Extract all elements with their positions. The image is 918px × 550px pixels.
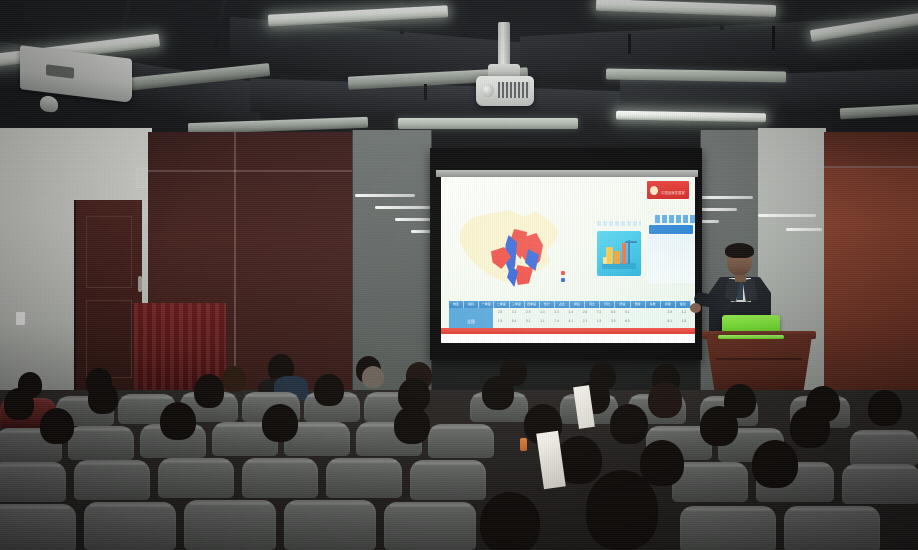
map-legend-dot-red	[561, 271, 565, 275]
table-cell	[634, 308, 648, 317]
projector-lens-icon	[481, 84, 494, 97]
lecture-hall-photo: 品牌 中国品牌发展报告	[0, 0, 918, 550]
table-header-cell: 环比	[600, 301, 615, 308]
light-hanger	[424, 84, 427, 100]
table-header-cell: 地区	[449, 301, 464, 308]
table-header-cell: 评级	[661, 301, 676, 308]
decor-stripe	[786, 228, 822, 231]
panel-heading-text	[655, 215, 695, 223]
light-hanger	[628, 34, 631, 54]
table-cell: 1.4	[564, 308, 578, 317]
attendee-head	[194, 374, 224, 408]
seat[interactable]	[284, 500, 376, 550]
attendee-head	[394, 406, 430, 444]
screen-top-bar	[436, 170, 698, 177]
attendee-head	[482, 376, 514, 410]
decor-stripe	[701, 196, 753, 199]
logo-subtext: 中国品牌发展报告	[661, 191, 685, 213]
attendee-head	[40, 408, 74, 444]
table-cell: 4.1	[564, 317, 578, 326]
table-header-cell: 一季度	[479, 301, 494, 308]
panel-body	[647, 235, 695, 283]
illustration-tank-icon	[606, 247, 613, 264]
decor-stripe	[395, 218, 433, 221]
seat[interactable]	[242, 458, 318, 498]
projector-pole	[498, 22, 510, 70]
door-panel	[86, 216, 132, 288]
attendee-head	[790, 406, 830, 448]
table-cell: 7.4	[550, 317, 564, 326]
slide-content: 品牌 中国品牌发展报告	[441, 177, 695, 343]
door-handle[interactable]	[138, 276, 142, 292]
seat[interactable]	[0, 462, 66, 502]
table-row: 2.83.12.94.03.31.42.67.28.96.13.54.2	[493, 308, 691, 317]
seat[interactable]	[384, 502, 476, 550]
table-cell: 8.1	[663, 317, 677, 326]
seat[interactable]	[850, 430, 918, 466]
seat[interactable]	[158, 458, 234, 498]
table-header-cell: 备注	[676, 301, 691, 308]
decor-stripe	[355, 194, 415, 197]
panel-heading-bar	[649, 225, 693, 234]
attendee-head	[160, 402, 196, 440]
table-cell	[649, 308, 663, 317]
table-cell: 3.1	[507, 308, 521, 317]
door-panel	[86, 300, 132, 378]
table-cell: 1.5	[592, 317, 606, 326]
table-cell: 5.1	[521, 317, 535, 326]
seat[interactable]	[84, 502, 176, 550]
table-cell: 1.1	[535, 317, 549, 326]
attendee-head	[868, 390, 902, 426]
map-legend-dot-blue	[561, 278, 565, 282]
table-header-cell: 指标	[464, 301, 479, 308]
decor-stripe	[701, 208, 737, 211]
table-cell: 6.1	[620, 308, 634, 317]
table-header-row: 地区指标一季度二季度三季度四季度合计占比排名同比环比增速贡献系数评级备注	[449, 301, 691, 308]
light-hanger	[772, 26, 775, 50]
table-cell: 3.5	[663, 308, 677, 317]
seat[interactable]	[68, 426, 134, 460]
seat[interactable]	[326, 458, 402, 498]
water-bottle[interactable]	[520, 438, 527, 451]
illustration-box-icon	[603, 257, 607, 264]
seat[interactable]	[428, 424, 494, 458]
table-header-cell: 贡献	[631, 301, 646, 308]
table-header-cell: 三季度	[510, 301, 525, 308]
illustration-caption	[597, 221, 641, 226]
table-header-cell: 增速	[615, 301, 630, 308]
illustration-tank-icon	[614, 251, 620, 264]
attendee-head	[4, 388, 34, 420]
attendee-head	[586, 470, 658, 550]
seat[interactable]	[74, 460, 150, 500]
table-row: 1.98.45.11.17.44.12.11.53.96.08.11.8	[493, 317, 691, 326]
table-header-cell: 二季度	[494, 301, 509, 308]
table-header-cell: 四季度	[525, 301, 540, 308]
table-cell: 8.4	[507, 317, 521, 326]
seat[interactable]	[842, 464, 918, 504]
table-cell: 3.9	[606, 317, 620, 326]
seat[interactable]	[410, 460, 486, 500]
decor-stripe	[701, 220, 719, 223]
logo-text: 品牌	[661, 177, 674, 178]
seat[interactable]	[680, 506, 776, 550]
illustration-tower-icon	[622, 243, 626, 264]
table-cell: 1.9	[493, 317, 507, 326]
ac-nozzle	[40, 95, 58, 113]
entry-door[interactable]	[74, 200, 142, 390]
panel-seam	[148, 170, 356, 172]
fluorescent-tube-light	[398, 118, 578, 129]
table-cell: 2.9	[521, 308, 535, 317]
table-header-cell: 合计	[540, 301, 555, 308]
attendee-head	[314, 374, 344, 406]
table-cell: 8.9	[606, 308, 620, 317]
laptop-base	[718, 335, 784, 339]
wall-panel-left	[352, 130, 432, 392]
table-cell: 4.2	[677, 308, 691, 317]
seat[interactable]	[0, 504, 76, 550]
table-header-cell: 系数	[646, 301, 661, 308]
slide-footer	[441, 334, 695, 343]
attendee-head	[648, 382, 682, 418]
right-wood-panel	[824, 132, 918, 394]
table-header-cell: 排名	[570, 301, 585, 308]
illustration-crane-arm-icon	[625, 241, 637, 243]
lectern	[706, 336, 812, 398]
table-cell	[649, 317, 663, 326]
table-header-cell: 同比	[585, 301, 600, 308]
table-cell: 3.3	[550, 308, 564, 317]
attendee-head	[610, 404, 648, 444]
decor-stripe	[758, 214, 816, 217]
seat[interactable]	[784, 506, 880, 550]
slide-logo: 品牌 中国品牌发展报告	[647, 181, 689, 199]
attendee-head	[88, 382, 118, 414]
illustration-tile	[597, 231, 641, 276]
projector-vent	[498, 82, 530, 98]
attendee-head	[752, 440, 798, 488]
fluorescent-tube-light	[596, 0, 776, 17]
table-cell: 4.0	[535, 308, 549, 317]
presenter-hand	[690, 303, 701, 313]
logo-mark-icon	[650, 186, 658, 195]
table-cell: 2.8	[493, 308, 507, 317]
lectern-edge	[716, 358, 802, 360]
china-map	[459, 203, 587, 301]
attendee-head	[640, 440, 684, 486]
table-cell: 2.1	[578, 317, 592, 326]
right-wood-panel-top	[824, 132, 918, 168]
table-header-cell: 占比	[555, 301, 570, 308]
attendee-head	[222, 366, 246, 392]
ceiling-beam	[214, 0, 226, 48]
attendee-head	[362, 366, 384, 388]
illustration-crane-icon	[628, 240, 630, 264]
seat[interactable]	[184, 500, 276, 550]
table-cell: 7.2	[592, 308, 606, 317]
presenter-hair	[725, 243, 754, 258]
fluorescent-tube-light	[268, 5, 448, 26]
attendee-head	[262, 404, 298, 442]
attendee-head	[480, 492, 540, 550]
map-region-red	[515, 265, 533, 285]
attendee-head	[700, 406, 738, 446]
table-cell	[634, 317, 648, 326]
table-cell: 2.6	[578, 308, 592, 317]
table-cell: 6.0	[620, 317, 634, 326]
table-cell: 1.8	[677, 317, 691, 326]
decor-stripe	[375, 206, 433, 209]
light-switch[interactable]	[16, 312, 25, 325]
